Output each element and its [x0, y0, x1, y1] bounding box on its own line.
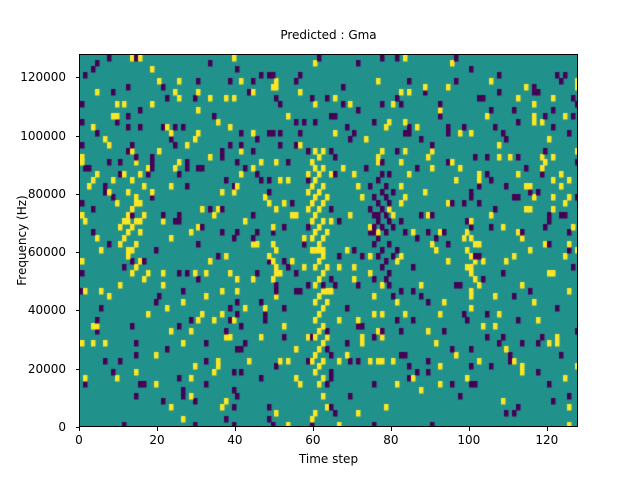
x-axis-tick-label: 80 — [383, 433, 398, 447]
x-axis-tick — [391, 427, 392, 431]
x-axis-tick-label: 100 — [457, 433, 480, 447]
x-axis-tick-label: 40 — [227, 433, 242, 447]
x-axis-tick — [547, 427, 548, 431]
y-axis-tick — [76, 369, 80, 370]
y-axis-label: Frequency (Hz) — [14, 54, 30, 427]
x-axis-tick — [79, 427, 80, 431]
y-axis-tick — [76, 252, 80, 253]
x-axis-tick-label: 120 — [535, 433, 558, 447]
x-axis-tick — [313, 427, 314, 431]
figure-canvas: Predicted : Gma 020406080100120 02000040… — [0, 0, 640, 480]
x-axis-label: Time step — [79, 452, 578, 466]
y-axis-tick-label: 0 — [58, 420, 66, 434]
y-axis-tick — [76, 77, 80, 78]
y-axis-tick — [76, 136, 80, 137]
heatmap-canvas — [80, 55, 578, 427]
x-axis-tick-label: 60 — [305, 433, 320, 447]
y-axis-tick — [76, 310, 80, 311]
y-axis-tick-label: 20000 — [28, 362, 66, 376]
y-axis-tick-label: 60000 — [28, 245, 66, 259]
x-axis-tick — [157, 427, 158, 431]
x-axis-tick — [469, 427, 470, 431]
page-title: Predicted : Gma — [79, 28, 578, 42]
y-axis-tick — [76, 194, 80, 195]
y-axis-tick-label: 40000 — [28, 303, 66, 317]
y-axis-tick-label: 80000 — [28, 187, 66, 201]
x-axis-tick-label: 20 — [149, 433, 164, 447]
y-axis-tick — [76, 427, 80, 428]
x-axis-tick-label: 0 — [75, 433, 83, 447]
x-axis-tick — [235, 427, 236, 431]
heatmap-plot-area — [79, 54, 578, 427]
